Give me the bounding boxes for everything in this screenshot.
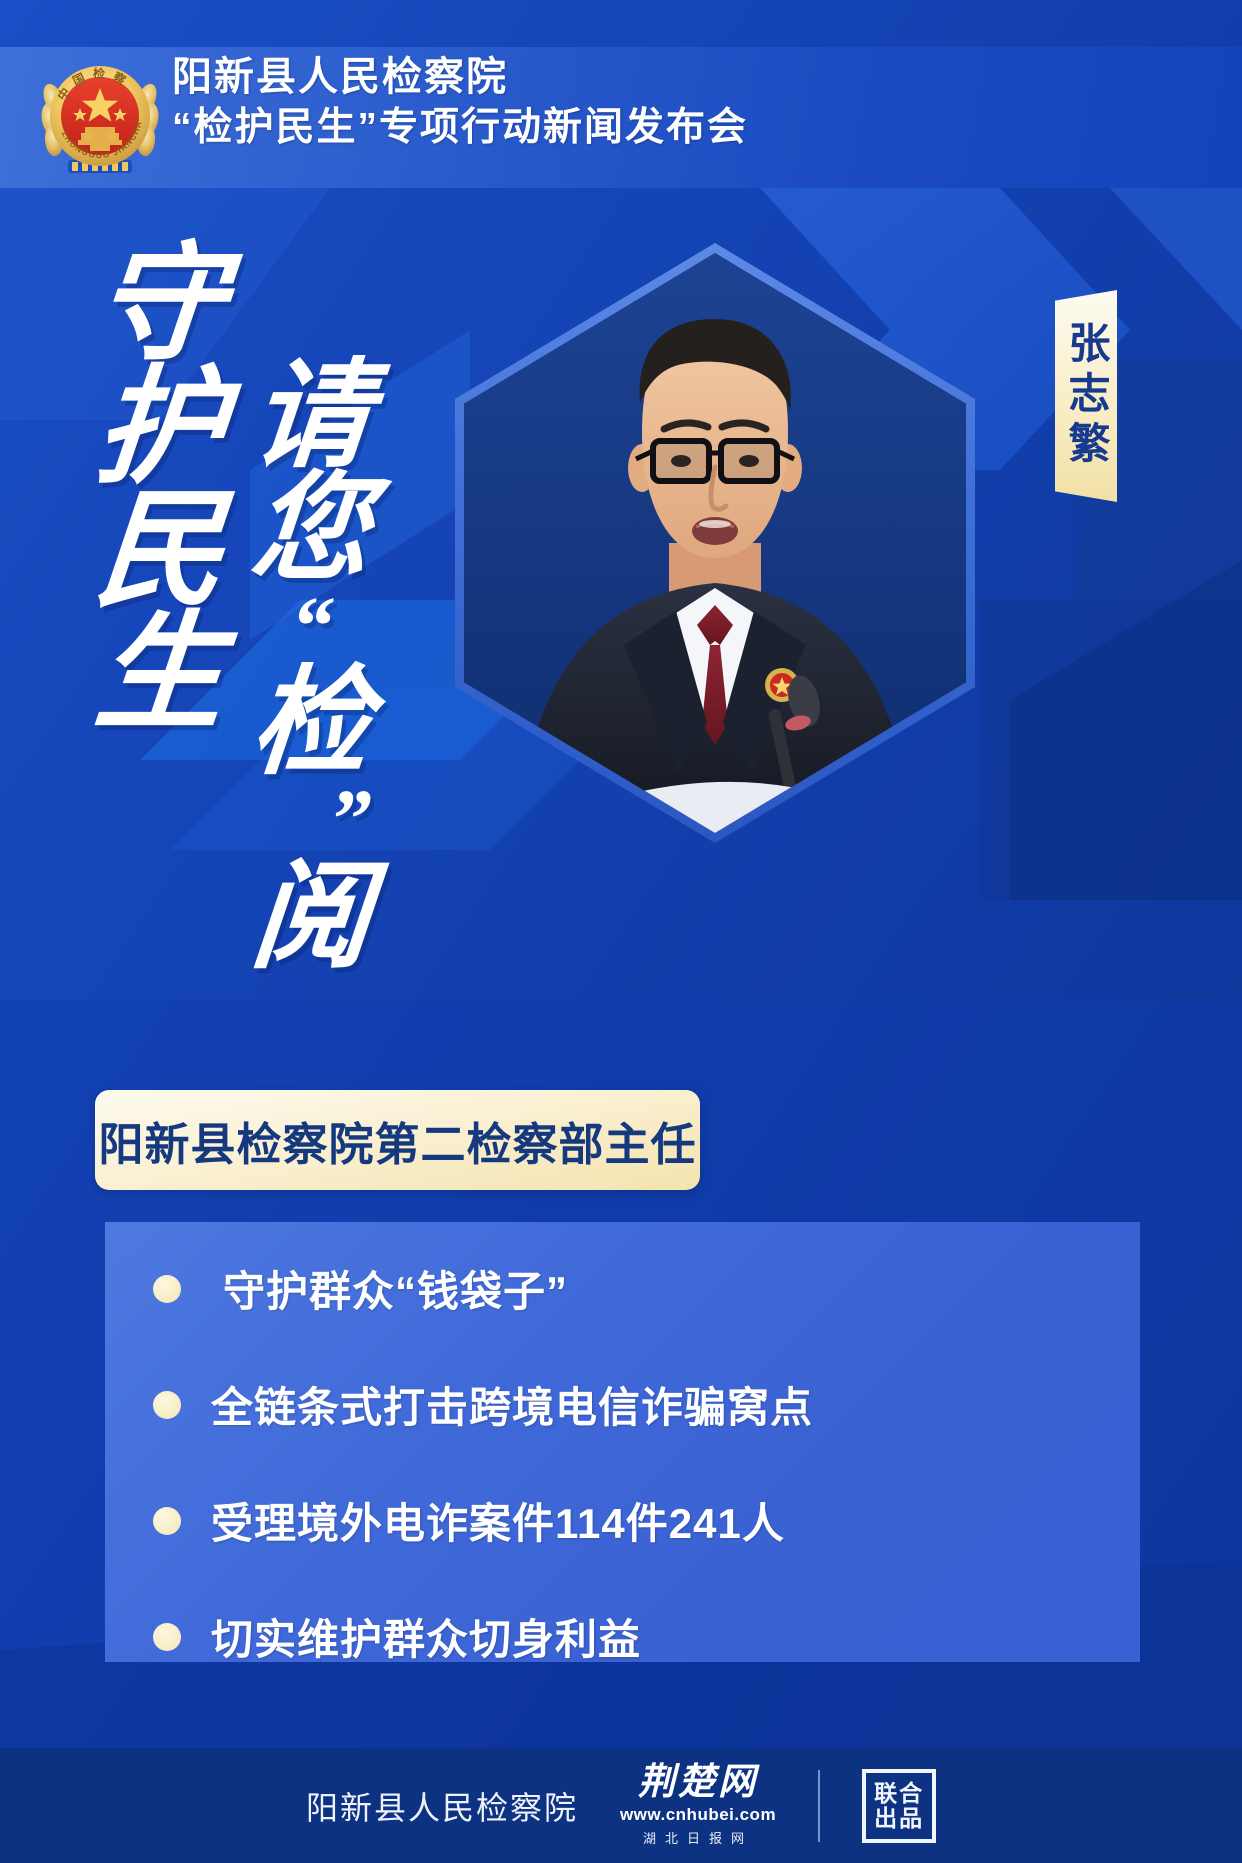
partner-logo-name: 荆楚网 <box>638 1764 758 1801</box>
speaker-name-ribbon: 张志繁 <box>1055 290 1117 502</box>
bullet-dot-icon <box>153 1275 181 1303</box>
key-points-panel: 守护群众“钱袋子” 全链条式打击跨境电信诈骗窝点 受理境外电诈案件114件241… <box>105 1222 1140 1662</box>
stamp-line-2: 出品 <box>874 1806 924 1831</box>
list-item: 全链条式打击跨境电信诈骗窝点 <box>153 1374 813 1435</box>
poster-root: 中国检察 ZHONGGUO JIANCHA 阳新县人民检察院 “检护民生”专项行… <box>0 0 1242 1863</box>
partner-subtitle: 湖北日报网 <box>643 1828 753 1847</box>
list-item: 受理境外电诈案件114件241人 <box>153 1490 785 1551</box>
hex-frame-inner <box>464 253 966 833</box>
footer-bar: 阳新县人民检察院 荆楚网 www.cnhubei.com 湖北日报网 联合 出品 <box>0 1748 1242 1863</box>
list-item-label: 受理境外电诈案件114件241人 <box>211 1490 785 1551</box>
procuratorate-emblem-icon: 中国检察 ZHONGGUO JIANCHA <box>38 48 162 180</box>
footer-organization: 阳新县人民检察院 <box>306 1783 578 1829</box>
portrait-illustration <box>464 253 966 833</box>
partner-logo-block: 荆楚网 www.cnhubei.com 湖北日报网 <box>620 1764 776 1847</box>
joint-production-stamp-icon: 联合 出品 <box>862 1769 936 1843</box>
header-title-block: 阳新县人民检察院 “检护民生”专项行动新闻发布会 <box>172 52 748 153</box>
list-item: 守护群众“钱袋子” <box>153 1258 568 1319</box>
bullet-dot-icon <box>153 1507 181 1535</box>
bullet-dot-icon <box>153 1391 181 1419</box>
speaker-photo <box>455 243 975 843</box>
list-item-label: 切实维护群众切身利益 <box>211 1606 641 1667</box>
speaker-name: 张志繁 <box>1065 321 1107 471</box>
stamp-line-1: 联合 <box>874 1781 924 1806</box>
bullet-dot-icon <box>153 1623 181 1651</box>
list-item: 切实维护群众切身利益 <box>153 1606 641 1667</box>
list-item-label: 守护群众“钱袋子” <box>223 1258 568 1319</box>
speaker-title-banner: 阳新县检察院第二检察部主任 <box>95 1090 700 1190</box>
partner-url: www.cnhubei.com <box>620 1805 776 1825</box>
footer-divider <box>818 1770 820 1842</box>
list-item-label: 全链条式打击跨境电信诈骗窝点 <box>211 1374 813 1435</box>
header-line-1: 阳新县人民检察院 <box>172 52 748 103</box>
header-line-2: “检护民生”专项行动新闻发布会 <box>172 103 748 153</box>
speaker-title-text: 阳新县检察院第二检察部主任 <box>98 1108 696 1173</box>
